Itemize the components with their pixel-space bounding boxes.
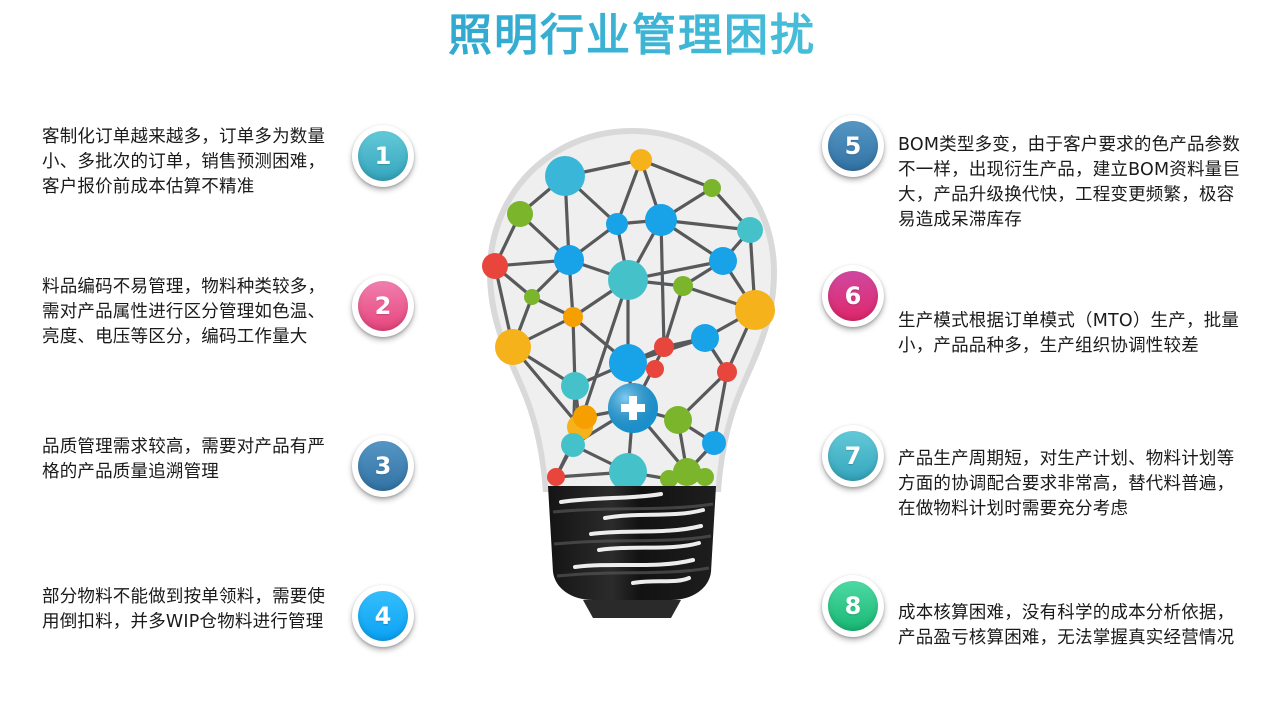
list-item[interactable]: 部分物料不能做到按单领料，需要使用倒扣料，并多WIP仓物料进行管理 4	[42, 585, 414, 647]
list-item[interactable]: 6 生产模式根据订单模式（MTO）生产，批量小，产品品种多，生产组织协调性较差	[822, 265, 1244, 359]
item-text: 成本核算困难，没有科学的成本分析依据，产品盈亏核算困难，无法掌握真实经营情况	[898, 601, 1244, 651]
list-item[interactable]: 7 产品生产周期短，对生产计划、物料计划等方面的协调配合要求非常高，替代料普遍，…	[822, 425, 1244, 522]
item-text: 生产模式根据订单模式（MTO）生产，批量小，产品品种多，生产组织协调性较差	[898, 309, 1244, 359]
badge-circle: 5	[828, 121, 878, 171]
bulb-screw-base	[548, 486, 716, 618]
badge-8[interactable]: 8	[822, 575, 884, 637]
badge-2[interactable]: 2	[352, 275, 414, 337]
list-item[interactable]: 品质管理需求较高，需要对产品有严格的产品质量追溯管理 3	[42, 435, 414, 497]
badge-number: 6	[845, 282, 862, 310]
item-text: BOM类型多变，由于客户要求的色产品参数不一样，出现衍生产品，建立BOM资料量巨…	[898, 133, 1244, 233]
list-item[interactable]: 5 BOM类型多变，由于客户要求的色产品参数不一样，出现衍生产品，建立BOM资料…	[822, 115, 1244, 233]
badge-circle: 2	[358, 281, 408, 331]
list-item[interactable]: 客制化订单越来越多，订单多为数量小、多批次的订单，销售预测困难，客户报价前成本估…	[42, 125, 414, 200]
badge-number: 2	[375, 292, 392, 320]
badge-1[interactable]: 1	[352, 125, 414, 187]
badge-4[interactable]: 4	[352, 585, 414, 647]
badge-number: 1	[375, 142, 392, 170]
badge-circle: 1	[358, 131, 408, 181]
left-items-column: 客制化订单越来越多，订单多为数量小、多批次的订单，销售预测困难，客户报价前成本估…	[42, 0, 412, 711]
badge-circle: 3	[358, 441, 408, 491]
network-lightbulb-graphic	[465, 120, 800, 660]
item-text: 料品编码不易管理，物料种类较多，需对产品属性进行区分管理如色温、亮度、电压等区分…	[42, 275, 338, 350]
badge-7[interactable]: 7	[822, 425, 884, 487]
plus-icon	[608, 383, 658, 433]
item-text: 客制化订单越来越多，订单多为数量小、多批次的订单，销售预测困难，客户报价前成本估…	[42, 125, 338, 200]
badge-number: 4	[375, 602, 392, 630]
item-text: 产品生产周期短，对生产计划、物料计划等方面的协调配合要求非常高，替代料普遍，在做…	[898, 447, 1244, 522]
list-item[interactable]: 8 成本核算困难，没有科学的成本分析依据，产品盈亏核算困难，无法掌握真实经营情况	[822, 575, 1244, 651]
badge-circle: 7	[828, 431, 878, 481]
badge-3[interactable]: 3	[352, 435, 414, 497]
right-items-column: 5 BOM类型多变，由于客户要求的色产品参数不一样，出现衍生产品，建立BOM资料…	[822, 0, 1252, 711]
badge-5[interactable]: 5	[822, 115, 884, 177]
list-item[interactable]: 料品编码不易管理，物料种类较多，需对产品属性进行区分管理如色温、亮度、电压等区分…	[42, 275, 414, 350]
badge-circle: 6	[828, 271, 878, 321]
badge-number: 7	[845, 442, 862, 470]
badge-circle: 8	[828, 581, 878, 631]
badge-6[interactable]: 6	[822, 265, 884, 327]
badge-number: 8	[845, 592, 862, 620]
badge-circle: 4	[358, 591, 408, 641]
item-text: 品质管理需求较高，需要对产品有严格的产品质量追溯管理	[42, 435, 338, 485]
badge-number: 5	[845, 132, 862, 160]
badge-number: 3	[375, 452, 392, 480]
item-text: 部分物料不能做到按单领料，需要使用倒扣料，并多WIP仓物料进行管理	[42, 585, 338, 635]
